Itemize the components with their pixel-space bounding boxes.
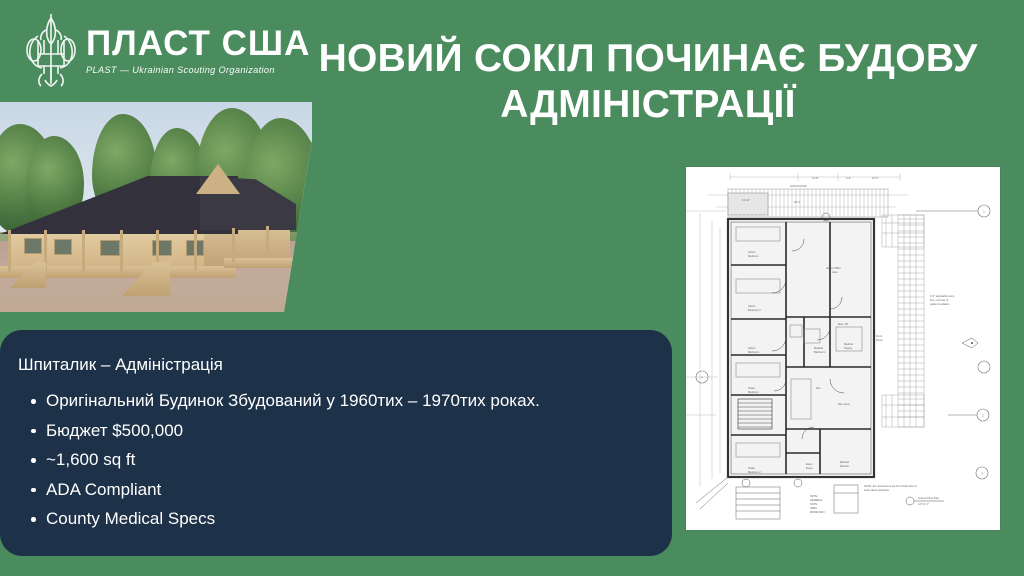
slide-root: ПЛАСТ США PLAST — Ukrainian Scouting Org… [0, 0, 1024, 576]
porch-post [266, 226, 269, 258]
svg-text:21'-8": 21'-8" [812, 176, 819, 180]
svg-text:grade foundation: grade foundation [930, 302, 950, 306]
plast-logo-title: ПЛАСТ США [86, 24, 282, 64]
building-window [24, 238, 42, 254]
building-deck-right [224, 258, 300, 268]
svg-text:Admin: Admin [748, 250, 756, 254]
svg-text:Ground Floor Plan: Ground Floor Plan [918, 496, 940, 500]
svg-text:stud unless otherwise: stud unless otherwise [864, 488, 889, 492]
svg-text:Bedroom 2: Bedroom 2 [748, 470, 761, 474]
svg-text:Pultar: Pultar [748, 466, 755, 470]
svg-text:Rec.: Rec. [816, 386, 822, 390]
list-item: ADA Compliant [46, 475, 656, 505]
plast-logo-block[interactable]: ПЛАСТ США PLAST — Ukrainian Scouting Org… [14, 8, 278, 94]
porch-post [82, 230, 85, 274]
list-item: Оригінальний Будинок Збудований у 1960ти… [46, 386, 656, 416]
porch-post [8, 230, 11, 274]
svg-text:GENERAL: GENERAL [810, 498, 823, 502]
porch-post [232, 228, 235, 262]
svg-text:HATCH ROOF: HATCH ROOF [790, 184, 807, 188]
svg-text:Medical: Medical [840, 460, 849, 464]
plast-logo-subtitle: PLAST — Ukrainian Scouting Organization [86, 65, 282, 75]
svg-text:Front: Front [876, 334, 882, 338]
svg-text:33'-4": 33'-4" [794, 200, 801, 204]
svg-text:Room: Room [806, 466, 813, 470]
svg-text:SPEC.: SPEC. [810, 506, 818, 510]
slide-title: НОВИЙ СОКІЛ ПОЧИНАЄ БУДОВУ АДМІНІСТРАЦІЇ [282, 36, 1014, 128]
plast-logo-text: ПЛАСТ США PLAST — Ukrainian Scouting Org… [86, 24, 282, 75]
building-rendering-photo [0, 102, 312, 312]
svg-text:Bedroom 2: Bedroom 2 [748, 308, 761, 312]
building-window [54, 239, 72, 255]
svg-text:1/4"=1'-0": 1/4"=1'-0" [918, 502, 929, 506]
plast-trident-fleur-de-lis-emblem [18, 10, 84, 92]
svg-text:21'-11": 21'-11" [742, 198, 750, 202]
svg-text:A: A [701, 376, 703, 380]
svg-text:Bathroom: Bathroom [748, 350, 759, 354]
porch-post [194, 230, 197, 270]
building-window [152, 240, 172, 256]
svg-text:Med. Off: Med. Off [838, 322, 848, 326]
svg-text:Admin Office: Admin Office [826, 266, 841, 270]
list-item: ~1,600 sq ft [46, 445, 656, 475]
svg-text:Bedroom: Bedroom [748, 390, 759, 394]
svg-text:Medical: Medical [844, 342, 853, 346]
svg-text:MORE INFO: MORE INFO [810, 510, 825, 514]
svg-text:Bathroom: Bathroom [814, 350, 825, 354]
svg-text:NOTE: ALL dimensions are from: NOTE: ALL dimensions are from finish fac… [864, 484, 917, 488]
svg-text:Area: Area [832, 270, 838, 274]
svg-text:Exam: Exam [806, 462, 813, 466]
svg-text:4'-0" adjustable ramp: 4'-0" adjustable ramp [930, 294, 955, 298]
floor-plan-blueprint[interactable]: 12 3A [686, 167, 1000, 530]
list-item: County Medical Specs [46, 504, 656, 534]
svg-text:Admin: Admin [748, 346, 756, 350]
svg-text:11'-4": 11'-4" [872, 176, 878, 180]
svg-text:Supply: Supply [844, 346, 853, 350]
porch-post [120, 230, 123, 274]
svg-text:Admin: Admin [748, 304, 756, 308]
svg-text:4'-2": 4'-2" [846, 176, 851, 180]
svg-text:Bedroom: Bedroom [748, 254, 759, 258]
svg-text:Rec. Area: Rec. Area [838, 402, 850, 406]
info-card-heading: Шпиталик – Адміністрація [18, 354, 654, 376]
svg-text:Pultar: Pultar [748, 386, 755, 390]
building-window [100, 240, 120, 256]
svg-text:line, min/max of: line, min/max of [930, 298, 948, 302]
svg-text:NOTE: NOTE [810, 502, 817, 506]
info-card: Шпиталик – Адміністрація Оригінальний Бу… [0, 330, 672, 556]
svg-text:Medical: Medical [814, 346, 823, 350]
info-card-bullet-list: Оригінальний Будинок Збудований у 1960ти… [22, 386, 656, 534]
svg-text:Director: Director [840, 464, 849, 468]
svg-text:NOTE:: NOTE: [810, 494, 818, 498]
list-item: Бюджет $500,000 [46, 416, 656, 446]
svg-text:Porch: Porch [876, 338, 883, 342]
